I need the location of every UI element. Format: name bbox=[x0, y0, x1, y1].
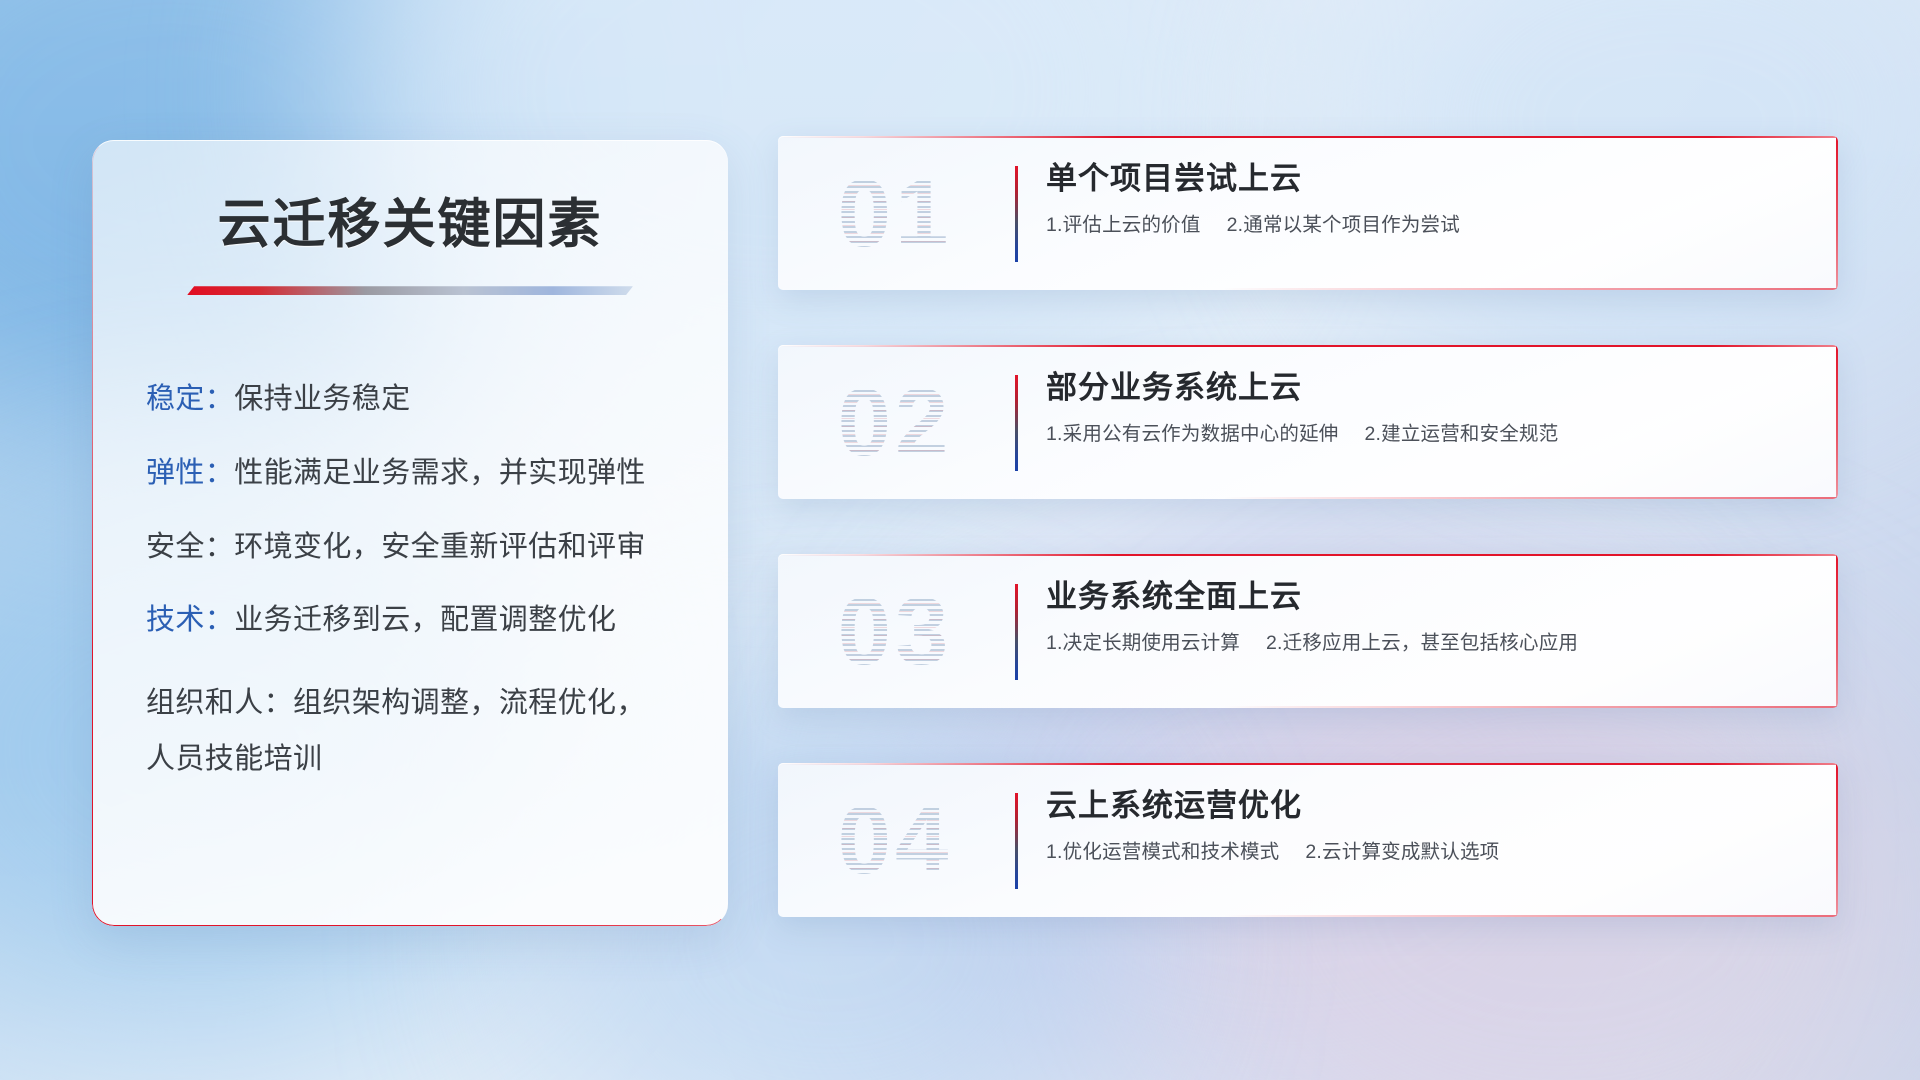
stage-subtitle: 1.决定长期使用云计算2.迁移应用上云，甚至包括核心应用 bbox=[1046, 630, 1798, 656]
card-edge-accent bbox=[1836, 345, 1838, 499]
stage-number-overlay: 03 bbox=[800, 564, 990, 700]
title-underline-bar bbox=[187, 286, 633, 295]
stage-point-1: 1.采用公有云作为数据中心的延伸 bbox=[1046, 423, 1338, 445]
factor-item-stability: 稳定：保持业务稳定 bbox=[146, 381, 674, 419]
stage-title: 业务系统全面上云 bbox=[1046, 578, 1798, 616]
card-divider-bar bbox=[1015, 793, 1018, 889]
stage-card-04[interactable]: 04 04 云上系统运营优化 1.优化运营模式和技术模式2.云计算变成默认选项 bbox=[778, 763, 1838, 917]
stage-subtitle: 1.评估上云的价值2.通常以某个项目作为尝试 bbox=[1046, 212, 1798, 238]
stage-title: 单个项目尝试上云 bbox=[1046, 160, 1798, 198]
factor-label: 稳定： bbox=[146, 383, 234, 415]
stage-title: 云上系统运营优化 bbox=[1046, 787, 1798, 825]
stage-point-1: 1.决定长期使用云计算 bbox=[1046, 632, 1240, 654]
factor-label: 安全： bbox=[146, 531, 234, 563]
card-edge-accent bbox=[1836, 136, 1838, 290]
factor-item-technology: 技术：业务迁移到云，配置调整优化 bbox=[146, 602, 674, 640]
card-divider-bar bbox=[1015, 584, 1018, 680]
stage-card-list: 01 01 单个项目尝试上云 1.评估上云的价值2.通常以某个项目作为尝试 02… bbox=[778, 136, 1838, 917]
factor-body: 业务迁移到云，配置调整优化 bbox=[234, 604, 616, 636]
factor-item-organization: 组织和人：组织架构调整，流程优化，人员技能培训 bbox=[146, 676, 674, 787]
card-divider-bar bbox=[1015, 166, 1018, 262]
stage-title: 部分业务系统上云 bbox=[1046, 369, 1798, 407]
stage-number-overlay: 02 bbox=[800, 355, 990, 491]
stage-point-2: 2.云计算变成默认选项 bbox=[1305, 841, 1499, 863]
factor-label: 弹性： bbox=[146, 457, 234, 489]
stage-card-01[interactable]: 01 01 单个项目尝试上云 1.评估上云的价值2.通常以某个项目作为尝试 bbox=[778, 136, 1838, 290]
factor-body: 环境变化，安全重新评估和评审 bbox=[234, 531, 646, 563]
stage-point-2: 2.建立运营和安全规范 bbox=[1364, 423, 1558, 445]
page-title: 云迁移关键因素 bbox=[146, 196, 674, 254]
factor-label: 技术： bbox=[146, 604, 234, 636]
stage-point-1: 1.优化运营模式和技术模式 bbox=[1046, 841, 1279, 863]
card-edge-accent bbox=[1836, 554, 1838, 708]
stage-number-overlay: 01 bbox=[800, 146, 990, 282]
card-divider-bar bbox=[1015, 375, 1018, 471]
stage-card-02[interactable]: 02 02 部分业务系统上云 1.采用公有云作为数据中心的延伸2.建立运营和安全… bbox=[778, 345, 1838, 499]
factor-body: 性能满足业务需求，并实现弹性 bbox=[234, 457, 646, 489]
stage-card-03[interactable]: 03 03 业务系统全面上云 1.决定长期使用云计算2.迁移应用上云，甚至包括核… bbox=[778, 554, 1838, 708]
key-factors-panel: 云迁移关键因素 稳定：保持业务稳定 弹性：性能满足业务需求，并实现弹性 安全：环… bbox=[92, 140, 728, 926]
stage-point-2: 2.迁移应用上云，甚至包括核心应用 bbox=[1266, 632, 1578, 654]
stage-number-overlay: 04 bbox=[800, 773, 990, 909]
stage-subtitle: 1.采用公有云作为数据中心的延伸2.建立运营和安全规范 bbox=[1046, 421, 1798, 447]
factor-item-elasticity: 弹性：性能满足业务需求，并实现弹性 bbox=[146, 455, 674, 493]
stage-point-2: 2.通常以某个项目作为尝试 bbox=[1227, 214, 1460, 236]
factor-label: 组织和人： bbox=[146, 687, 293, 719]
factor-list: 稳定：保持业务稳定 弹性：性能满足业务需求，并实现弹性 安全：环境变化，安全重新… bbox=[146, 381, 674, 787]
factor-item-security: 安全：环境变化，安全重新评估和评审 bbox=[146, 529, 674, 567]
stage-point-1: 1.评估上云的价值 bbox=[1046, 214, 1201, 236]
card-edge-accent bbox=[1836, 763, 1838, 917]
factor-body: 保持业务稳定 bbox=[234, 383, 410, 415]
stage-subtitle: 1.优化运营模式和技术模式2.云计算变成默认选项 bbox=[1046, 839, 1798, 865]
